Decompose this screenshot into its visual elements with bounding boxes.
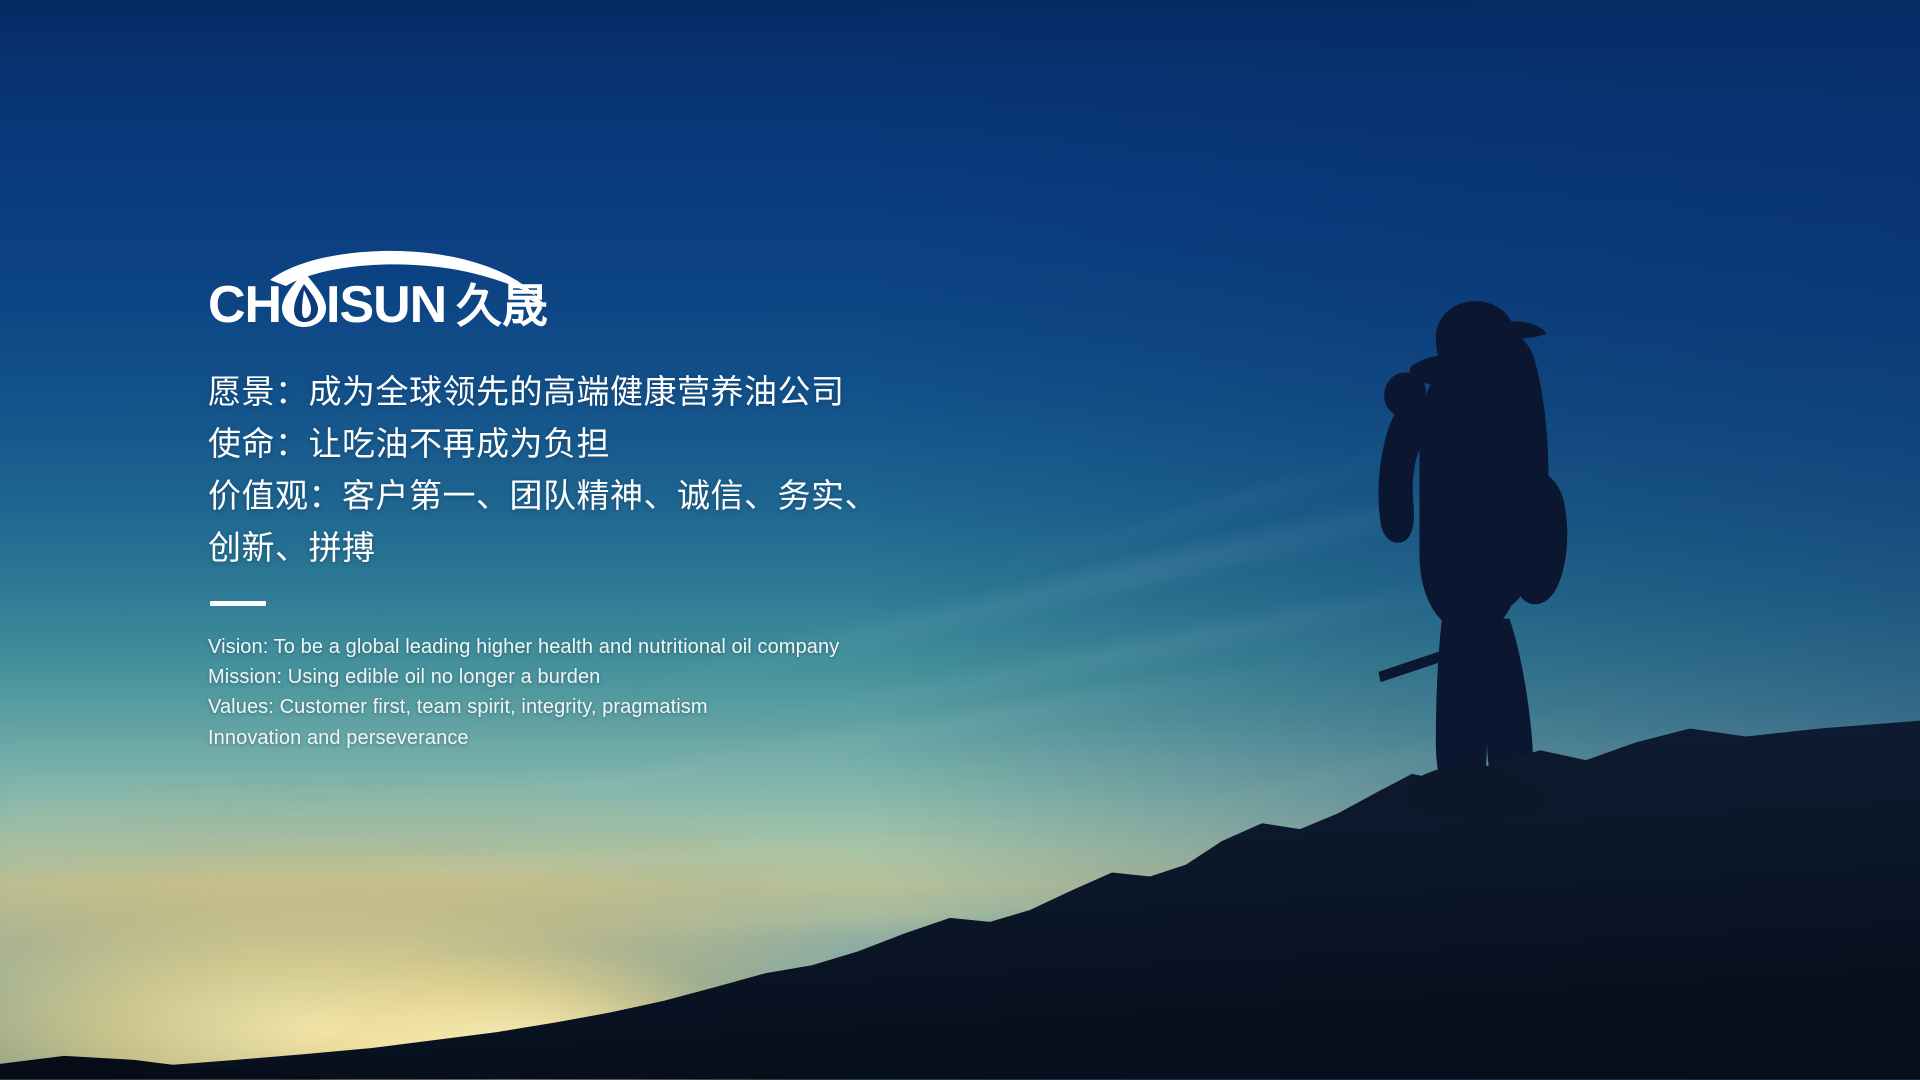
statement-english: Vision: To be a global leading higher he… bbox=[208, 632, 1108, 754]
logo-latin-part2: ISUN bbox=[326, 276, 446, 330]
divider-rule bbox=[210, 601, 266, 606]
slide-canvas: CH ISUN 久晟 愿景：成为全球领先的高端健康营养油公司 使命：让吃油不再成… bbox=[0, 0, 1920, 1080]
logo-cjk: 久晟 bbox=[456, 280, 548, 330]
statement-cn-line: 愿景：成为全球领先的高端健康营养油公司 bbox=[208, 366, 1108, 418]
statement-en-line: Innovation and perseverance bbox=[208, 723, 1108, 753]
statement-cn-line: 创新、拼搏 bbox=[208, 522, 1108, 574]
logo-latin-part1: CH bbox=[208, 276, 281, 330]
statement-cn-line: 价值观：客户第一、团队精神、诚信、务实、 bbox=[208, 470, 1108, 522]
content-block: CH ISUN 久晟 愿景：成为全球领先的高端健康营养油公司 使命：让吃油不再成… bbox=[208, 246, 1108, 753]
choisun-logo[interactable]: CH ISUN 久晟 bbox=[208, 246, 548, 330]
statement-chinese: 愿景：成为全球领先的高端健康营养油公司 使命：让吃油不再成为负担 价值观：客户第… bbox=[208, 366, 1108, 575]
statement-en-line: Values: Customer first, team spirit, int… bbox=[208, 692, 1108, 722]
statement-en-line: Mission: Using edible oil no longer a bu… bbox=[208, 662, 1108, 692]
statement-en-line: Vision: To be a global leading higher he… bbox=[208, 632, 1108, 662]
statement-cn-line: 使命：让吃油不再成为负担 bbox=[208, 418, 1108, 470]
